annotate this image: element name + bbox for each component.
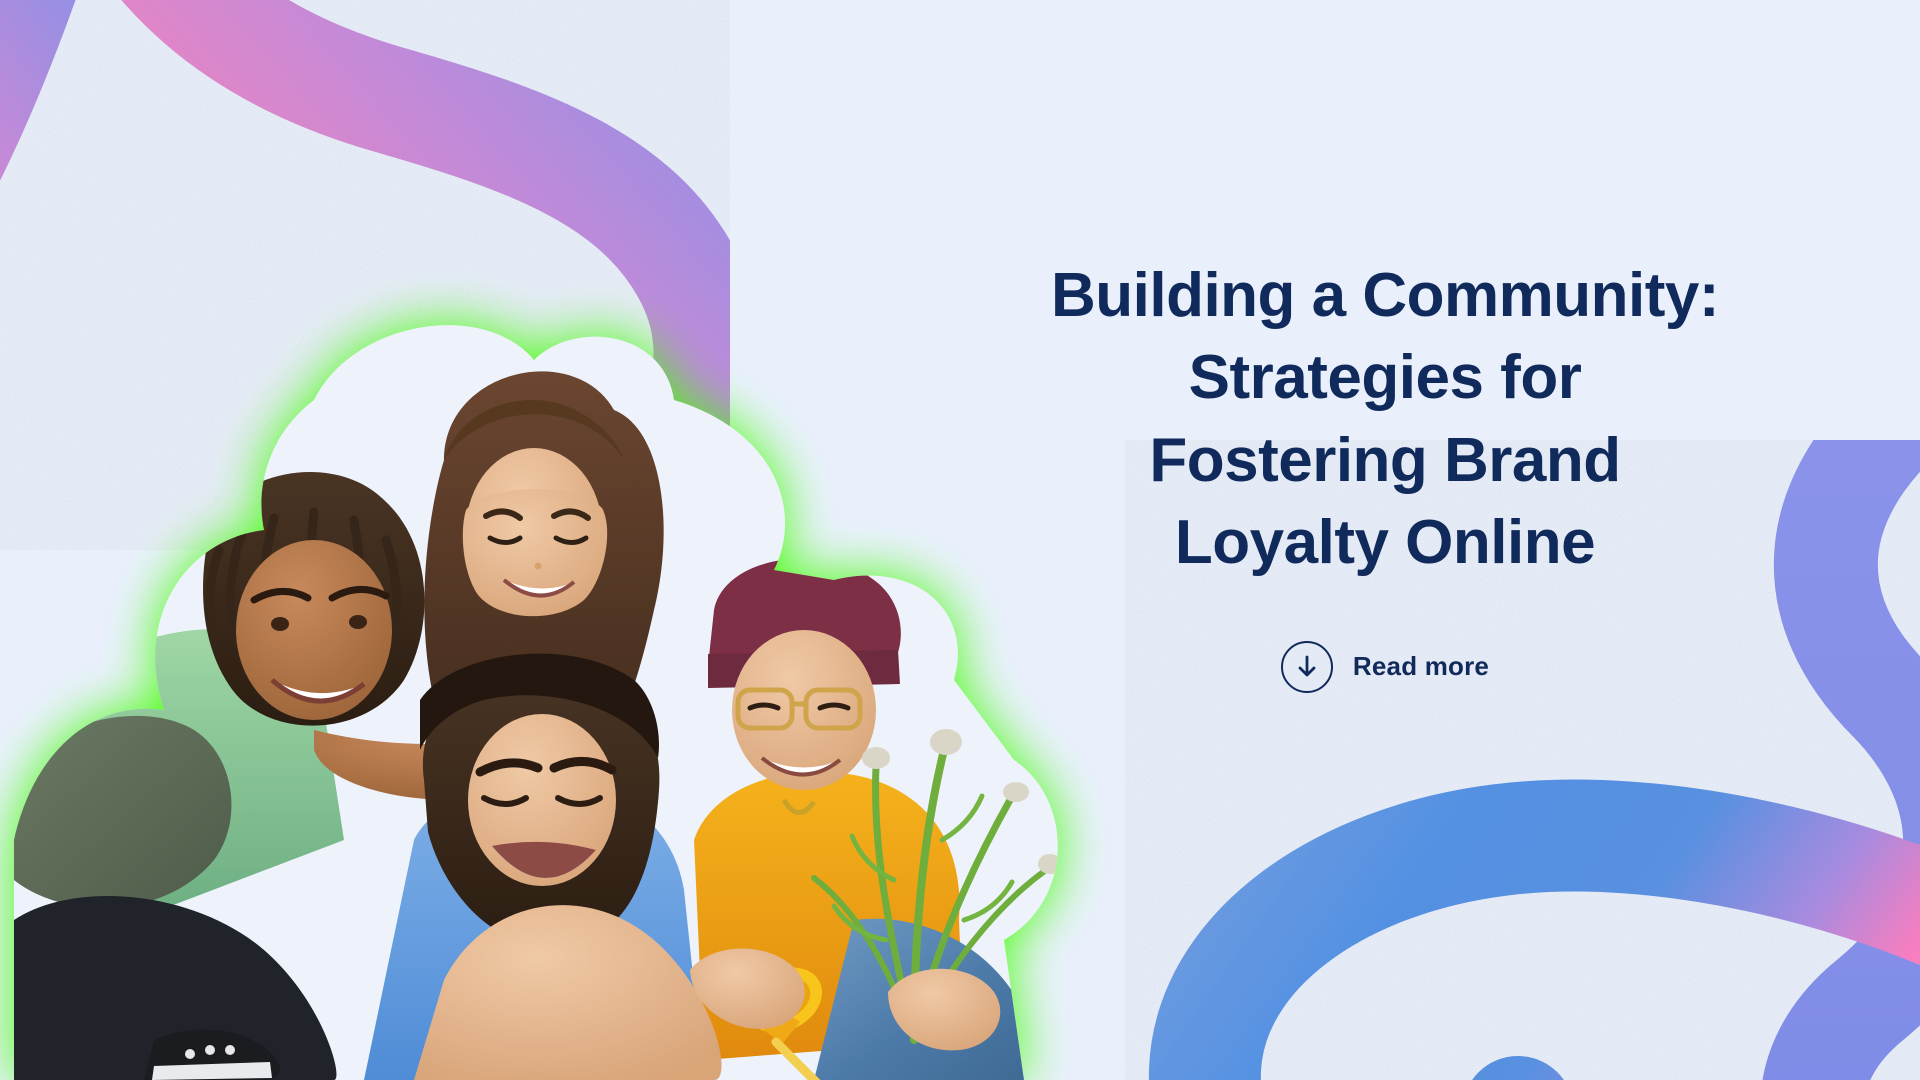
hero-content: Building a Community: Strategies for Fos… [985, 255, 1785, 693]
hero-banner: Building a Community: Strategies for Fos… [0, 0, 1920, 1080]
page-title: Building a Community: Strategies for Fos… [985, 255, 1785, 585]
headline-line-1: Building a Community: [985, 255, 1785, 337]
read-more-label: Read more [1353, 651, 1489, 682]
headline-line-2: Strategies for [985, 337, 1785, 419]
read-more-button[interactable]: Read more [1281, 641, 1489, 693]
arrow-down-circle-icon [1281, 641, 1333, 693]
headline-line-4: Loyalty Online [985, 502, 1785, 584]
ribbon-right-edge [1812, 440, 1920, 1080]
headline-line-3: Fostering Brand [985, 420, 1785, 502]
